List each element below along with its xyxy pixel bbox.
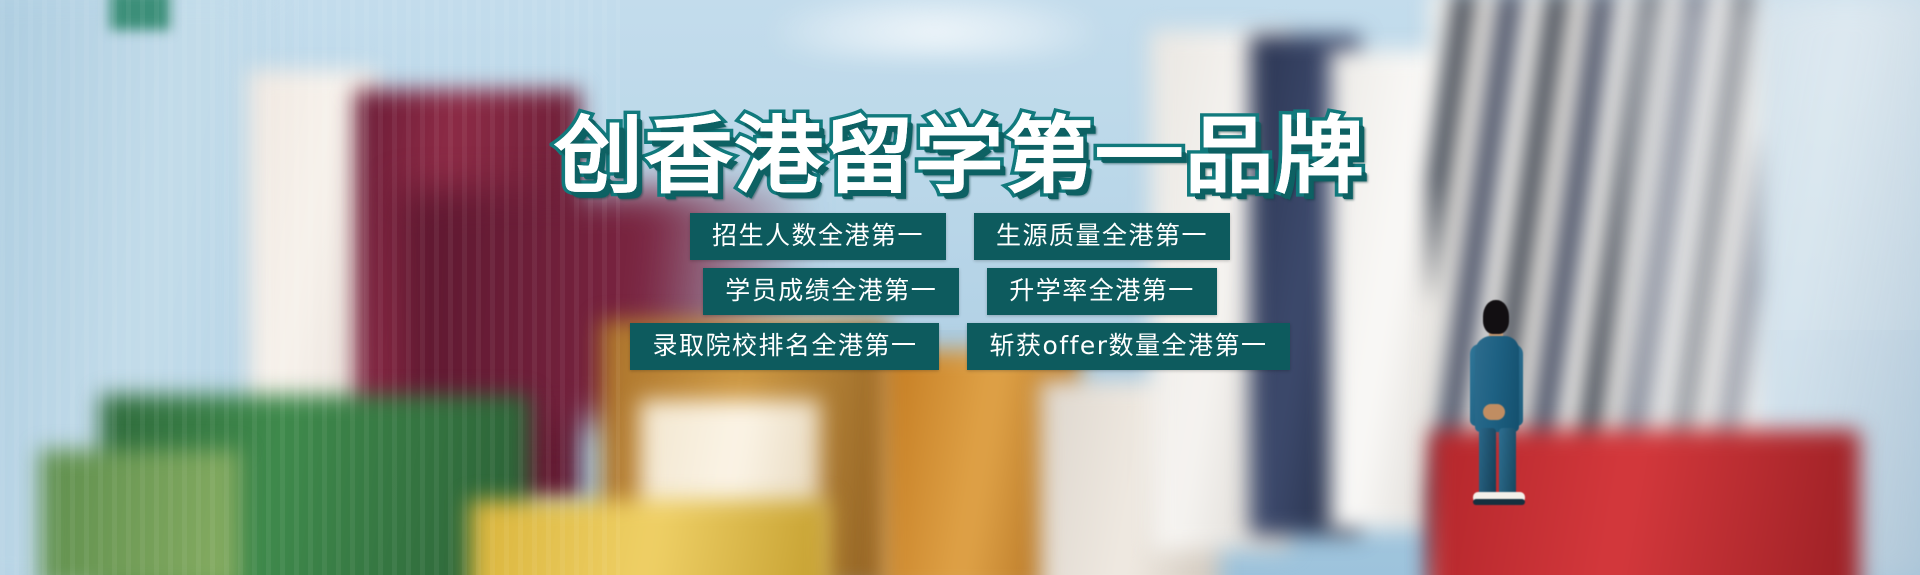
feature-pill-student-results[interactable]: 学员成绩全港第一 (703, 268, 959, 315)
figurine-leg-right (1499, 428, 1516, 496)
feature-pill-student-quality[interactable]: 生源质量全港第一 (974, 213, 1230, 260)
feature-pill-row: 录取院校排名全港第一 斩获offer数量全港第一 (630, 323, 1289, 370)
feature-pill-school-ranking[interactable]: 录取院校排名全港第一 (630, 323, 939, 370)
feature-pill-grid: 招生人数全港第一 生源质量全港第一 学员成绩全港第一 升学率全港第一 录取院校排… (0, 213, 1920, 370)
figurine-leg-left (1479, 428, 1496, 496)
figurine-shoe-sole (1473, 499, 1525, 505)
cloud-shape (770, 0, 1100, 60)
feature-pill-row: 学员成绩全港第一 升学率全港第一 (703, 268, 1217, 315)
promo-banner: 创香港留学第一品牌 创香港留学第一品牌 招生人数全港第一 生源质量全港第一 学员… (0, 0, 1920, 575)
feature-pill-progression-rate[interactable]: 升学率全港第一 (987, 268, 1217, 315)
figurine-hands (1483, 404, 1505, 420)
feature-pill-enrollment-count[interactable]: 招生人数全港第一 (690, 213, 946, 260)
feature-pill-row: 招生人数全港第一 生源质量全港第一 (690, 213, 1230, 260)
feature-pill-offer-count[interactable]: 斩获offer数量全港第一 (967, 323, 1289, 370)
